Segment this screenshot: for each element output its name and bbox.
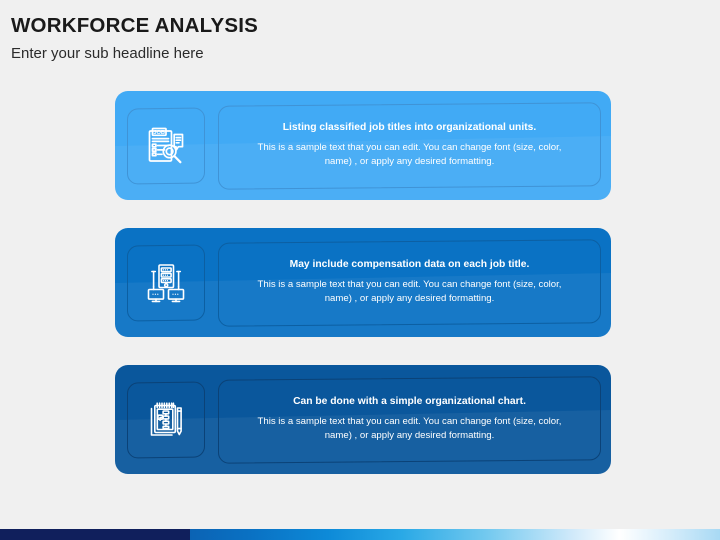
card-heading: Can be done with a simple organizational… — [293, 396, 526, 408]
page-title: WORKFORCE ANALYSIS — [11, 14, 701, 38]
org-chart-notepad-pencil-icon — [142, 396, 190, 444]
card-body: This is a sample text that you can edit.… — [250, 141, 570, 169]
server-workstations-icon — [142, 259, 190, 307]
card-body: This is a sample text that you can edit.… — [250, 415, 570, 443]
slide-header: WORKFORCE ANALYSIS Enter your sub headli… — [11, 14, 701, 62]
icon-tile-2 — [126, 243, 206, 323]
bottom-accent-bar — [0, 529, 720, 540]
text-panel-2: May include compensation data on each jo… — [217, 240, 602, 326]
text-panel-1: Listing classified job titles into organ… — [217, 103, 602, 189]
page-subtitle: Enter your sub headline here — [11, 45, 701, 62]
text-panel-3: Can be done with a simple organizational… — [217, 377, 602, 463]
card-heading: Listing classified job titles into organ… — [283, 122, 536, 134]
job-document-search-icon: JOB — [142, 122, 190, 170]
card-list: JOB — [115, 91, 611, 474]
card-item-2[interactable]: May include compensation data on each jo… — [115, 228, 611, 337]
bottom-bar-gradient-segment — [190, 529, 720, 540]
card-body: This is a sample text that you can edit.… — [250, 278, 570, 306]
card-item-1[interactable]: JOB — [115, 91, 611, 200]
bottom-bar-navy-segment — [0, 529, 190, 540]
card-item-3[interactable]: Can be done with a simple organizational… — [115, 365, 611, 474]
icon-tile-3 — [126, 380, 206, 460]
card-heading: May include compensation data on each jo… — [290, 259, 530, 271]
icon-tile-1: JOB — [126, 106, 206, 186]
svg-text:JOB: JOB — [153, 129, 165, 135]
